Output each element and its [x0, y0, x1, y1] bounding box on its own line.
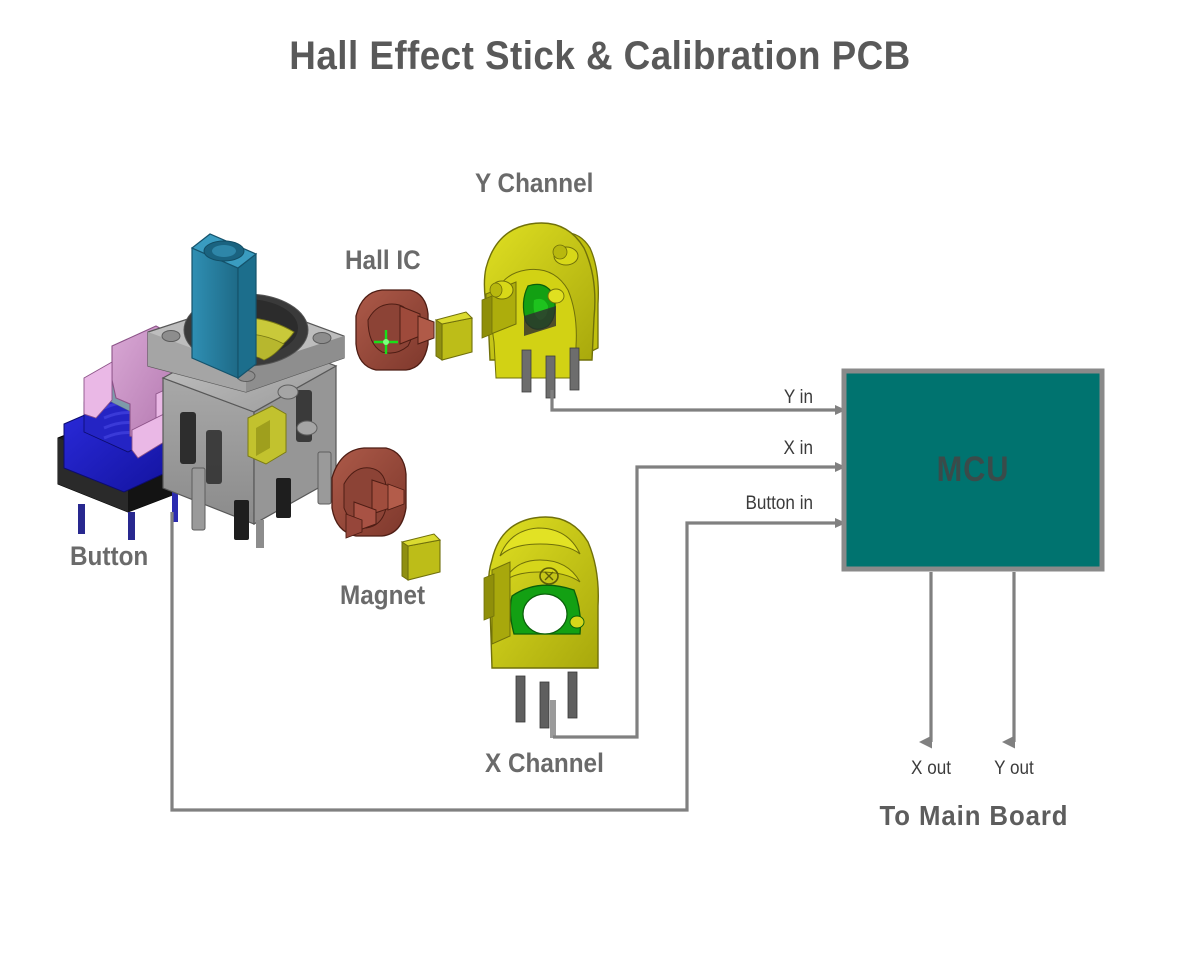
signal-label-x-in: X in [678, 438, 813, 460]
signal-label-y-in: Y in [678, 387, 813, 409]
label-magnet: Magnet [340, 580, 425, 611]
label-y-channel: Y Channel [475, 168, 593, 199]
label-button: Button [70, 541, 148, 572]
signal-label-y-out: Y out [960, 758, 1068, 780]
signal-label-button-in: Button in [678, 493, 813, 515]
footer-to-main-board: To Main Board [853, 800, 1094, 832]
mcu-label: MCU [859, 450, 1086, 490]
label-hall-ic: Hall IC [345, 245, 421, 276]
label-x-channel: X Channel [485, 748, 604, 779]
diagram-canvas: Hall Effect Stick & Calibration PCB [0, 0, 1200, 960]
